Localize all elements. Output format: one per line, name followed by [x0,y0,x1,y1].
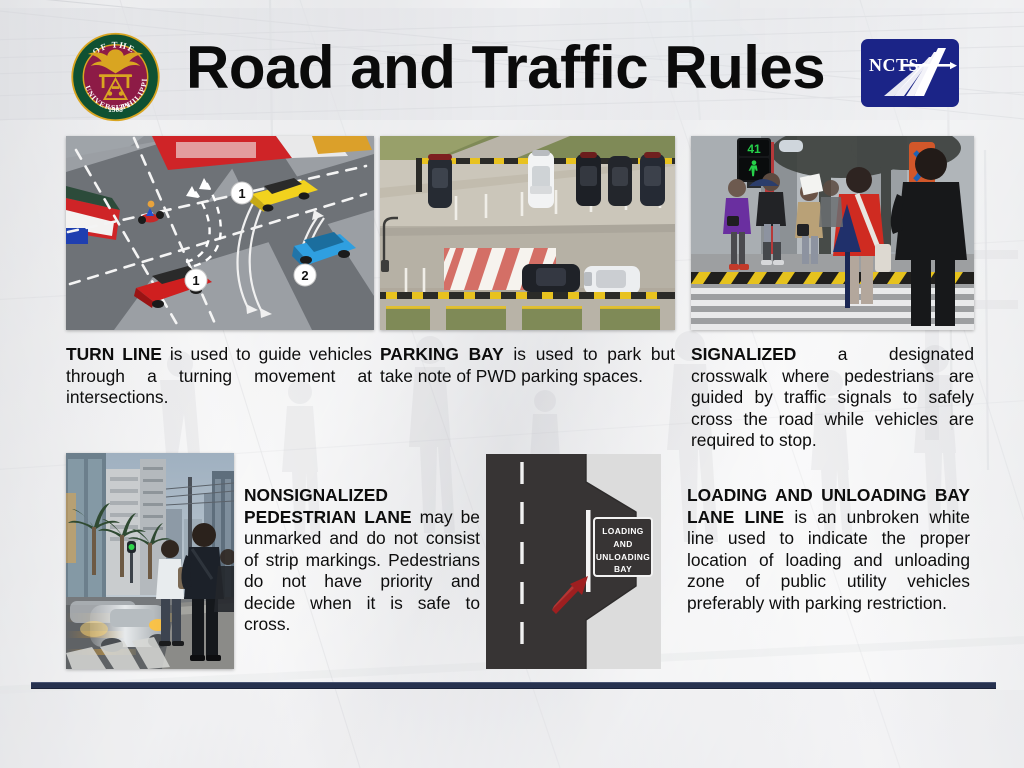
signalized-crosswalk-photo: 41 [691,136,974,330]
svg-text:1: 1 [192,273,199,288]
marker-1-left: 1 [185,269,207,291]
caption-signalized: SIGNALIZED a designated crosswalk where … [691,344,974,452]
slide-root: OF THE UNIVERSITY PHILIPPINES 1908 Road … [0,0,1024,768]
sign-line-2: AND [613,539,632,549]
caption-parking-bay: PARKING BAY is used to park but take not… [380,344,675,387]
parking-bay-aerial-photo [380,136,675,330]
caption-turn-line: TURN LINE is used to guide vehicles thro… [66,344,372,409]
svg-text:NCTS: NCTS [869,55,919,75]
loading-bay-signboard: LOADING AND UNLOADING BAY [594,518,652,576]
svg-text:1: 1 [238,186,245,201]
ncts-logo: NCTS [860,38,960,108]
marker-1-top: 1 [231,182,253,204]
svg-text:41: 41 [747,142,761,156]
loading-unloading-bay-diagram: LOADING AND UNLOADING BAY [486,454,661,669]
svg-text:1908: 1908 [108,105,123,114]
term-turn-line: TURN LINE [66,344,162,364]
term-nonsignalized: NONSIGNALIZED PEDESTRIAN LANE [244,485,412,527]
footer-divider [31,682,996,689]
marker-2-right: 2 [294,264,316,286]
sign-line-3: UNLOADING [596,552,650,562]
nonsignalized-crossing-photo [66,453,234,669]
up-seal-logo: OF THE UNIVERSITY PHILIPPINES 1908 [68,31,163,123]
page-title: Road and Traffic Rules [186,38,825,98]
term-signalized: SIGNALIZED [691,344,796,364]
caption-nonsignalized: NONSIGNALIZED PEDESTRIAN LANE may be unm… [244,485,480,636]
caption-loading-bay: LOADING AND UNLOADING BAY LANE LINE is a… [687,485,970,614]
term-parking-bay: PARKING BAY [380,344,504,364]
svg-text:2: 2 [301,268,308,283]
turn-line-intersection-diagram: 1 1 2 [66,136,374,330]
sign-line-4: BAY [614,564,632,574]
sign-line-1: LOADING [602,526,643,536]
